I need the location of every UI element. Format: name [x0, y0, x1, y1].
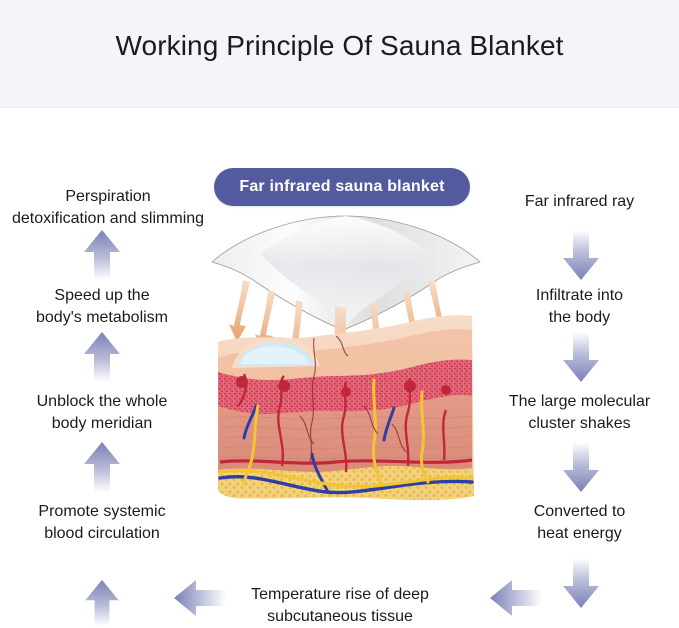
- infographic-root: Working Principle Of Sauna Blanket Far i…: [0, 0, 679, 626]
- left-arrow-up-3: [82, 440, 122, 494]
- left-step-3-label: Unblock the whole body meridian: [0, 391, 204, 435]
- bottom-arrow-left-outer: [488, 578, 544, 618]
- right-arrow-down-2: [561, 330, 601, 384]
- badge-label: Far infrared sauna blanket: [239, 178, 444, 196]
- skin-layers: [218, 315, 474, 500]
- left-arrow-up-2: [82, 330, 122, 384]
- right-step-1-label: Far infrared ray: [480, 191, 679, 213]
- bottom-arrow-left-inner: [172, 578, 228, 618]
- left-step-4-label: Promote systemic blood circulation: [0, 501, 204, 545]
- right-arrow-down-4: [561, 556, 601, 610]
- skin-cross-section-illustration: [196, 210, 496, 510]
- right-arrow-down-3: [561, 440, 601, 494]
- right-step-4-label: Converted to heat energy: [480, 501, 679, 545]
- right-step-2-label: Infiltrate into the body: [480, 285, 679, 329]
- bottom-step-label: Temperature rise of deep subcutaneous ti…: [228, 584, 452, 628]
- far-infrared-sauna-blanket-badge: Far infrared sauna blanket: [214, 168, 470, 206]
- left-step-2-label: Speed up the body's metabolism: [0, 285, 204, 329]
- right-step-3-label: The large molecular cluster shakes: [480, 391, 679, 435]
- right-arrow-down-1: [561, 228, 601, 282]
- page-title: Working Principle Of Sauna Blanket: [0, 30, 679, 62]
- left-arrow-up-1: [82, 228, 122, 282]
- left-step-1-label: Perspiration detoxification and slimming: [0, 186, 216, 230]
- left-arrow-up-4: [82, 578, 122, 628]
